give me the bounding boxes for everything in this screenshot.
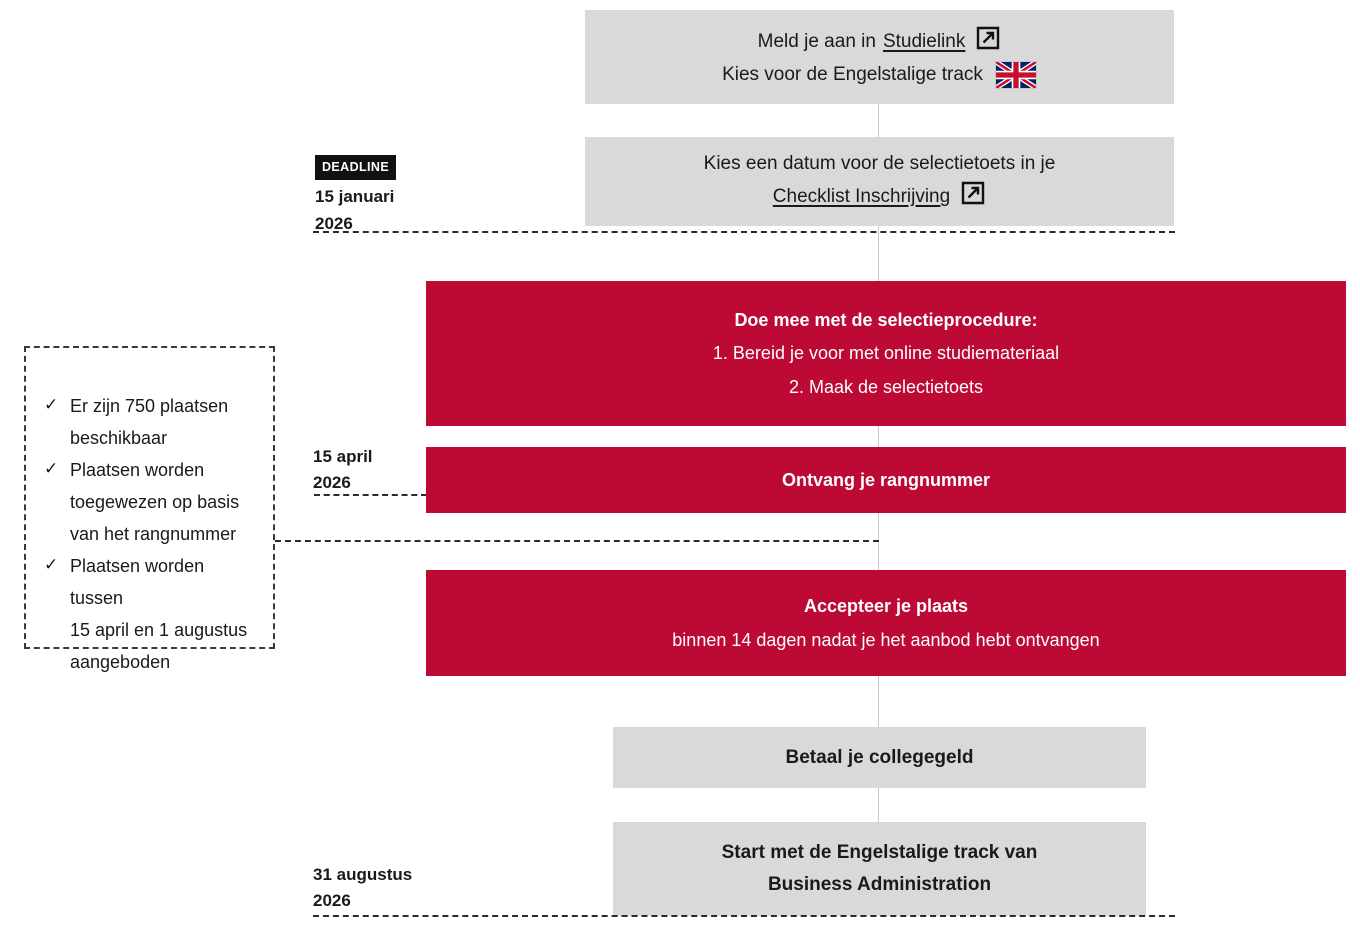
list-item-line: Plaatsen worden tussen [70,556,204,608]
collegegeld-heading: Betaal je collegegeld [786,744,974,772]
studielink-line-2-text: Kies voor de Engelstalige track [722,61,983,89]
step-rangnummer[interactable]: Ontvang je rangnummer [426,447,1346,513]
dashed-divider-august [313,915,1175,917]
connector-line-3 [878,426,879,447]
date-january-day: 15 januari [315,184,396,210]
list-item-line: 15 april en 1 augustus [70,620,247,640]
uk-flag-icon [995,61,1037,89]
date-label-april: 15 april 2026 [313,444,373,497]
dashed-divider-infobox [275,540,879,542]
studielink-line-1: Meld je aan in Studielink [758,25,1002,58]
timeline-diagram: Meld je aan in Studielink Kies voor de E… [0,0,1360,931]
step-start-track[interactable]: Start met de Engelstalige track van Busi… [613,822,1146,916]
step-collegegeld[interactable]: Betaal je collegegeld [613,727,1146,788]
check-icon: ✓ [44,390,58,420]
list-item: ✓ Plaatsen worden toegewezen op basis va… [44,454,259,550]
connector-line-6 [878,788,879,822]
rangnummer-heading: Ontvang je rangnummer [782,467,990,493]
dashed-divider-january [313,231,1175,233]
external-link-icon[interactable] [975,25,1001,58]
step-selectieprocedure[interactable]: Doe mee met de selectieprocedure: 1. Ber… [426,281,1346,426]
check-icon: ✓ [44,454,58,484]
selectietoets-line-2: Checklist Inschrijving [773,180,986,213]
selectieprocedure-item-2: 2. Maak de selectietoets [789,374,983,400]
list-item-line: van het rangnummer [70,524,236,544]
list-item-line: Er zijn 750 plaatsen [70,396,228,416]
step-studielink[interactable]: Meld je aan in Studielink Kies voor de E… [585,10,1174,104]
studielink-line-2: Kies voor de Engelstalige track [722,61,1037,89]
step-accepteer-plaats[interactable]: Accepteer je plaats binnen 14 dagen nada… [426,570,1346,676]
selectieprocedure-heading: Doe mee met de selectieprocedure: [734,307,1037,333]
check-icon: ✓ [44,550,58,580]
date-april-year: 2026 [313,470,373,496]
list-item-line: toegewezen op basis [70,492,239,512]
list-item-line: aangeboden [70,652,170,672]
connector-line-1 [878,104,879,137]
accepteer-heading: Accepteer je plaats [804,593,968,619]
connector-line-2 [878,226,879,282]
info-box-list: ✓ Er zijn 750 plaatsen beschikbaar ✓ Pla… [44,390,259,678]
list-item: ✓ Plaatsen worden tussen 15 april en 1 a… [44,550,259,678]
studielink-link[interactable]: Studielink [883,28,965,56]
selectietoets-line-1: Kies een datum voor de selectietoets in … [704,150,1056,178]
dashed-divider-april [314,494,427,496]
step-selectietoets-datum[interactable]: Kies een datum voor de selectietoets in … [585,137,1174,226]
list-item: ✓ Er zijn 750 plaatsen beschikbaar [44,390,259,454]
start-track-line-1: Start met de Engelstalige track van [722,839,1038,867]
info-box-plaatsen: ✓ Er zijn 750 plaatsen beschikbaar ✓ Pla… [24,346,275,649]
start-track-line-2: Business Administration [768,871,991,899]
date-label-august: 31 augustus 2026 [313,862,412,915]
date-august-day: 31 augustus [313,862,412,888]
checklist-inschrijving-link[interactable]: Checklist Inschrijving [773,183,950,211]
date-january-year: 2026 [315,211,396,237]
list-item-line: beschikbaar [70,428,167,448]
date-april-day: 15 april [313,444,373,470]
external-link-icon[interactable] [960,180,986,213]
accepteer-subtext: binnen 14 dagen nadat je het aanbod hebt… [672,627,1099,653]
studielink-line-1-text: Meld je aan in [758,28,876,56]
date-label-january: DEADLINE 15 januari 2026 [315,153,396,237]
date-august-year: 2026 [313,888,412,914]
selectieprocedure-item-1: 1. Bereid je voor met online studiemater… [713,340,1059,366]
list-item-line: Plaatsen worden [70,460,204,480]
connector-line-5 [878,676,879,727]
deadline-badge: DEADLINE [315,155,396,180]
